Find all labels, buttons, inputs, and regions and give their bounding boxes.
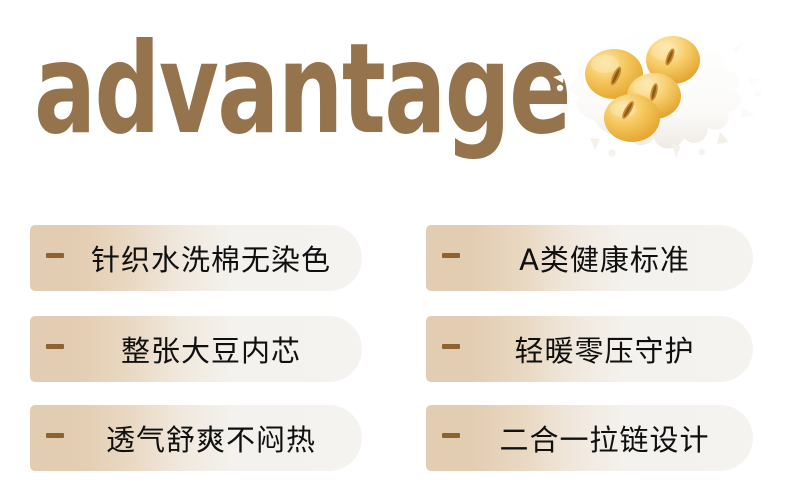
feature-label: 透气舒爽不闷热 <box>30 405 362 471</box>
feature-label: 轻暖零压守护 <box>426 316 753 382</box>
feature-pill-3[interactable]: 整张大豆内芯 <box>30 316 362 382</box>
feature-label: 针织水洗棉无染色 <box>30 225 362 291</box>
feature-label: A类健康标准 <box>426 225 753 291</box>
advantage-poster: advantage <box>0 0 790 502</box>
feature-label: 整张大豆内芯 <box>30 316 362 382</box>
page-title: advantage <box>34 26 424 164</box>
feature-row: 整张大豆内芯 轻暖零压守护 <box>0 316 790 382</box>
poster-header: advantage <box>0 0 790 200</box>
feature-row: 针织水洗棉无染色 A类健康标准 <box>0 225 790 291</box>
feature-pill-6[interactable]: 二合一拉链设计 <box>426 405 753 471</box>
feature-row: 透气舒爽不闷热 二合一拉链设计 <box>0 405 790 471</box>
feature-list: 针织水洗棉无染色 A类健康标准 整张大豆内芯 轻暖零压守护 透气舒爽不闷热 <box>0 216 790 502</box>
feature-pill-5[interactable]: 透气舒爽不闷热 <box>30 405 362 471</box>
feature-pill-2[interactable]: A类健康标准 <box>426 225 753 291</box>
feature-pill-1[interactable]: 针织水洗棉无染色 <box>30 225 362 291</box>
milk-splash-icon <box>552 12 782 180</box>
feature-pill-4[interactable]: 轻暖零压守护 <box>426 316 753 382</box>
feature-label: 二合一拉链设计 <box>426 405 753 471</box>
